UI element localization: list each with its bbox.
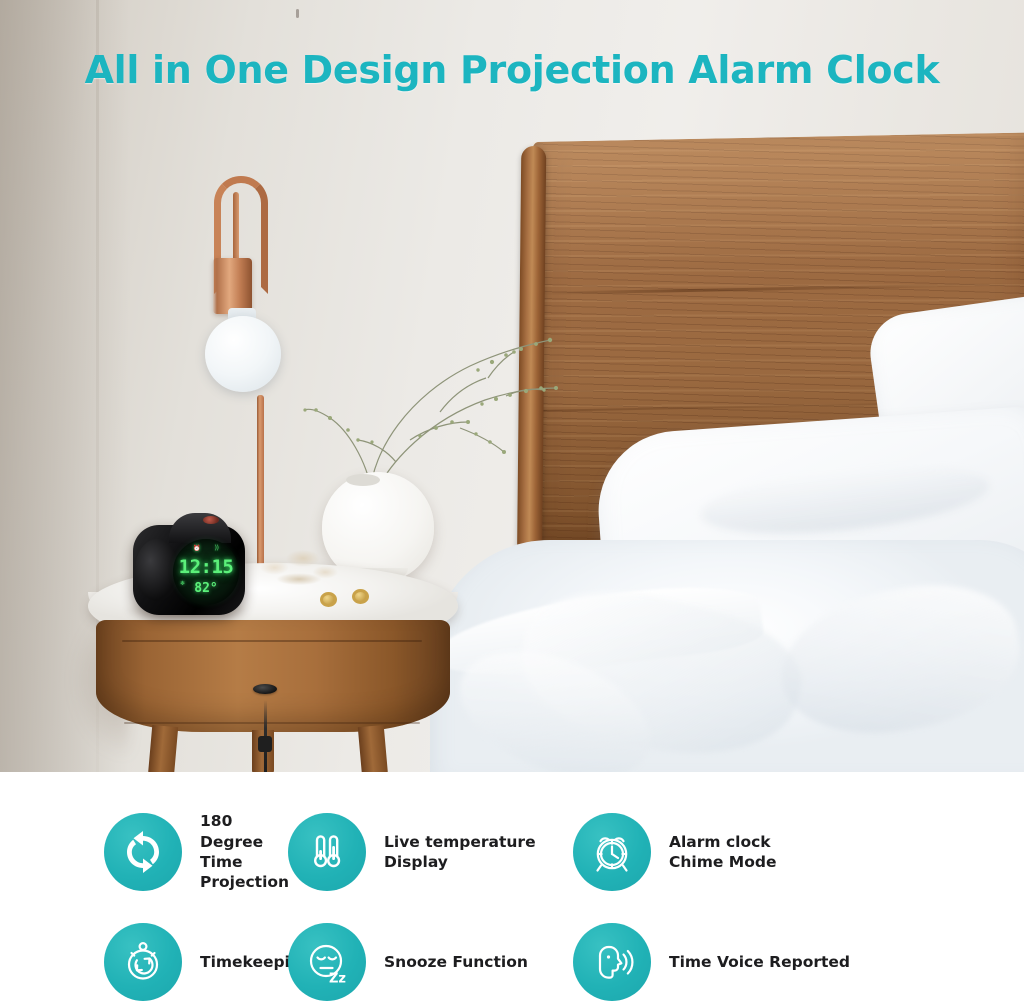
feature-item-timekeeping[interactable]: Timekeeping <box>0 912 288 1005</box>
wall-speck <box>296 9 299 18</box>
product-marketing-page: ⏰ )) ❄ 12:15 82° All in One Design Proje… <box>0 0 1024 1005</box>
nightstand-leg <box>148 725 178 772</box>
rotation-arrows-icon <box>104 813 182 891</box>
gold-ring-decor <box>352 589 369 604</box>
feature-item-live-temperature-display[interactable]: Live temperature Display <box>288 802 573 902</box>
nightstand-drawer <box>96 620 450 732</box>
lcd-temperature-readout: 82° <box>173 582 239 595</box>
feature-row-top: 180 Degree Time Projection <box>0 802 1024 902</box>
power-plug <box>258 736 272 752</box>
lamp-collar <box>213 258 252 314</box>
alarm-indicator-icon: ⏰ <box>193 545 200 552</box>
thermometer-icon <box>288 813 366 891</box>
nightstand-leg <box>358 725 388 772</box>
svg-text:Zz: Zz <box>329 972 346 987</box>
lamp-bulb <box>205 316 281 392</box>
headboard-highlight <box>533 132 1024 282</box>
speaking-head-icon <box>573 923 651 1001</box>
lcd-time-readout: 12:15 <box>173 558 239 577</box>
drawer-seam <box>122 640 422 642</box>
drawer-seam <box>124 722 420 724</box>
feature-item-time-voice-reported[interactable]: Time Voice Reported <box>573 912 953 1005</box>
drawer-knob <box>253 684 277 694</box>
stopwatch-icon <box>104 923 182 1001</box>
feature-grid: 180 Degree Time Projection <box>0 772 1024 1005</box>
lcd-indicator-icons: ⏰ )) <box>173 545 239 552</box>
alarm-clock-icon <box>573 813 651 891</box>
headline-band: All in One Design Projection Alarm Clock <box>0 48 1024 92</box>
feature-label: Snooze Function <box>384 952 528 972</box>
coral-decor <box>258 540 340 586</box>
gold-ring-decor <box>320 592 337 607</box>
signal-indicator-icon: )) <box>215 545 219 552</box>
feature-item-alarm-clock-chime-mode[interactable]: Alarm clock Chime Mode <box>573 802 953 902</box>
feature-item-snooze-function[interactable]: Zz Snooze Function <box>288 912 573 1005</box>
vase-mouth <box>346 474 380 486</box>
feature-label: Alarm clock Chime Mode <box>669 832 776 873</box>
headboard-grain <box>533 282 1024 295</box>
hero-photo: ⏰ )) ❄ 12:15 82° <box>0 0 1024 772</box>
projector-lens-icon <box>203 516 219 524</box>
feature-row-bottom: Timekeeping Zz Snooze Function <box>0 912 1024 1005</box>
page-title: All in One Design Projection Alarm Clock <box>0 48 1024 92</box>
clock-lcd-screen: ⏰ )) ❄ 12:15 82° <box>173 539 239 605</box>
feature-item-180-degree-time-projection[interactable]: 180 Degree Time Projection <box>0 802 288 902</box>
feature-label: 180 Degree Time Projection <box>200 811 289 893</box>
feature-label: Time Voice Reported <box>669 952 850 972</box>
feature-label: Live temperature Display <box>384 832 536 873</box>
sleeping-face-icon: Zz <box>288 923 366 1001</box>
projection-alarm-clock: ⏰ )) ❄ 12:15 82° <box>133 513 245 615</box>
